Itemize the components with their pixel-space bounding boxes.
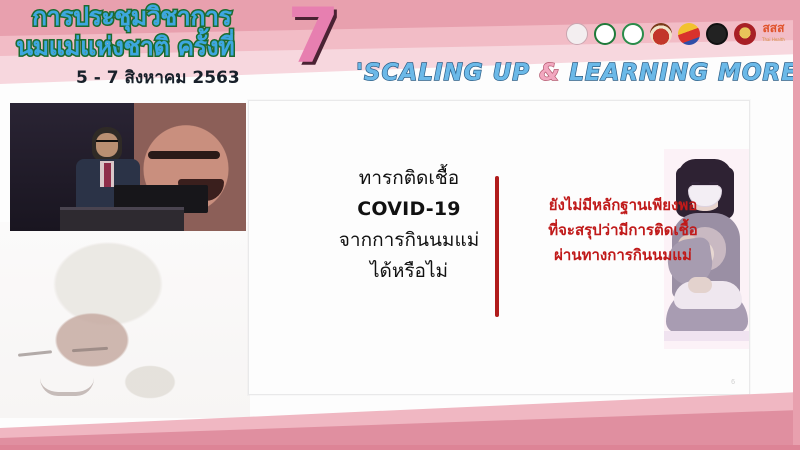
logo-black-seal-icon [706, 23, 728, 45]
conference-masthead: การประชุมวิชาการ นมแม่แห่งชาติ ครั้งที่ … [14, 2, 314, 91]
conference-title-line-1: การประชุมวิชาการ [32, 2, 314, 32]
mother-hand [688, 277, 712, 293]
bottom-edge-border [0, 445, 800, 450]
tagline-part-1: 'SCALING UP [356, 60, 539, 86]
logo-thai-breastfeeding-centre-icon [566, 23, 588, 45]
tagline-ampersand: & [539, 60, 560, 86]
illustration-floor [664, 331, 749, 341]
question-text-block: ทารกติดเชื้อ COVID-19 จากการกินนมแม่ ได้… [311, 163, 507, 287]
mother-eye-right [709, 182, 718, 184]
logo-ministry-of-public-health-2-icon [622, 23, 644, 45]
logo-thai-health-abbr: สสส [762, 21, 784, 35]
slide-panel: ทารกติดเชื้อ COVID-19 จากการกินนมแม่ ได้… [248, 100, 750, 395]
mother-eye-left [691, 182, 700, 184]
question-line-1: ทารกติดเชื้อ [311, 163, 507, 194]
smiling-baby-photo [0, 222, 250, 418]
edition-number: 7 [287, 0, 340, 74]
conference-title-line-2: นมแม่แห่งชาติ ครั้งที่ [16, 32, 314, 62]
question-line-3: จากการกินนมแม่ [311, 225, 507, 256]
speaker-tie [104, 163, 111, 187]
logo-ministry-of-public-health-1-icon [594, 23, 616, 45]
speaker-face [96, 133, 118, 157]
slide-screenshot: การประชุมวิชาการ นมแม่แห่งชาติ ครั้งที่ … [0, 0, 800, 450]
tagline-part-2: LEARNING MORE' [560, 60, 800, 86]
question-line-4: ได้หรือไม่ [311, 256, 507, 287]
sponsor-logos: สสส Thai Health [566, 22, 785, 46]
conference-tagline: 'SCALING UP & LEARNING MORE' [356, 60, 800, 86]
answer-line-3: ผ่านทางการกินนมแม่ [507, 243, 739, 268]
speaker-presentation-video[interactable] [10, 103, 246, 231]
conference-date: 5 - 7 สิงหาคม 2563 [76, 64, 314, 91]
answer-line-1: ยังไม่มีหลักฐานเพียงพอ [507, 193, 739, 218]
question-line-2: COVID-19 [311, 194, 507, 225]
vertical-divider [495, 176, 499, 317]
slide-page-number: 6 [731, 379, 735, 386]
answer-text-block: ยังไม่มีหลักฐานเพียงพอ ที่จะสรุปว่ามีการ… [507, 193, 739, 268]
right-edge-border [793, 0, 800, 450]
logo-thai-health-sss-icon: สสส Thai Health [762, 22, 785, 46]
logo-royal-standard-icon [678, 23, 700, 45]
logo-royal-emblem-icon [650, 23, 672, 45]
answer-line-2: ที่จะสรุปว่ามีการติดเชื้อ [507, 218, 739, 243]
glasses-icon [96, 140, 118, 145]
logo-thai-health-sub: Thai Health [762, 34, 785, 46]
podium [60, 207, 184, 231]
logo-red-seal-icon [734, 23, 756, 45]
